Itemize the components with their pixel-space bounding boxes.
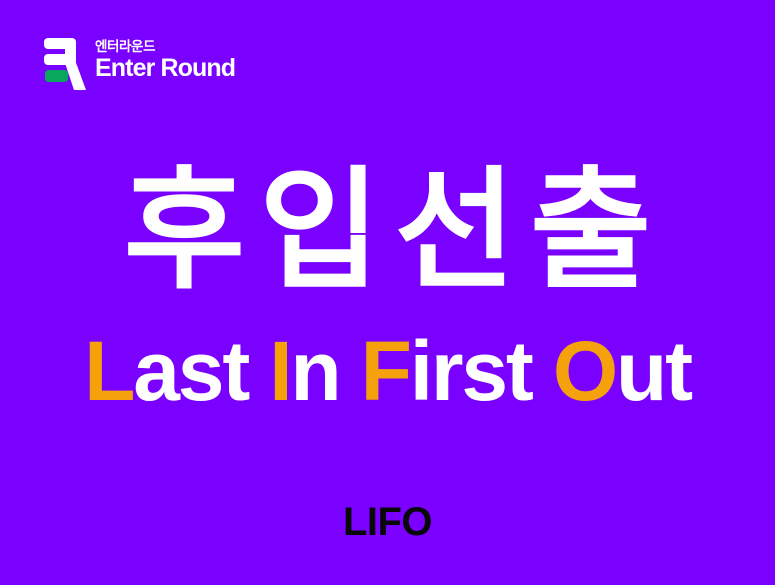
headline-initial-letter: I [269, 324, 290, 418]
brand-name-english: Enter Round [95, 55, 235, 82]
headline-text-segment: n [290, 324, 360, 418]
acronym-label: LIFO [0, 500, 775, 544]
headline-initial-letter: O [553, 324, 616, 418]
headline-initial-letter: F [361, 324, 410, 418]
headline-text-segment: ast [133, 324, 269, 418]
brand-wordmark: 엔터라운드 Enter Round [95, 38, 235, 82]
headline-english: Last In First Out [0, 329, 775, 413]
slide-canvas: 엔터라운드 Enter Round 후입선출 Last In First Out… [0, 0, 775, 585]
brand-logo[interactable]: 엔터라운드 Enter Round [44, 38, 235, 90]
brand-name-korean: 엔터라운드 [95, 40, 235, 54]
headline-text-segment: ut [616, 324, 691, 418]
headline-text-segment: irst [410, 324, 553, 418]
headline-korean: 후입선출 [0, 158, 775, 303]
headline-initial-letter: L [84, 324, 133, 418]
enter-round-r-mark-icon [44, 38, 86, 90]
